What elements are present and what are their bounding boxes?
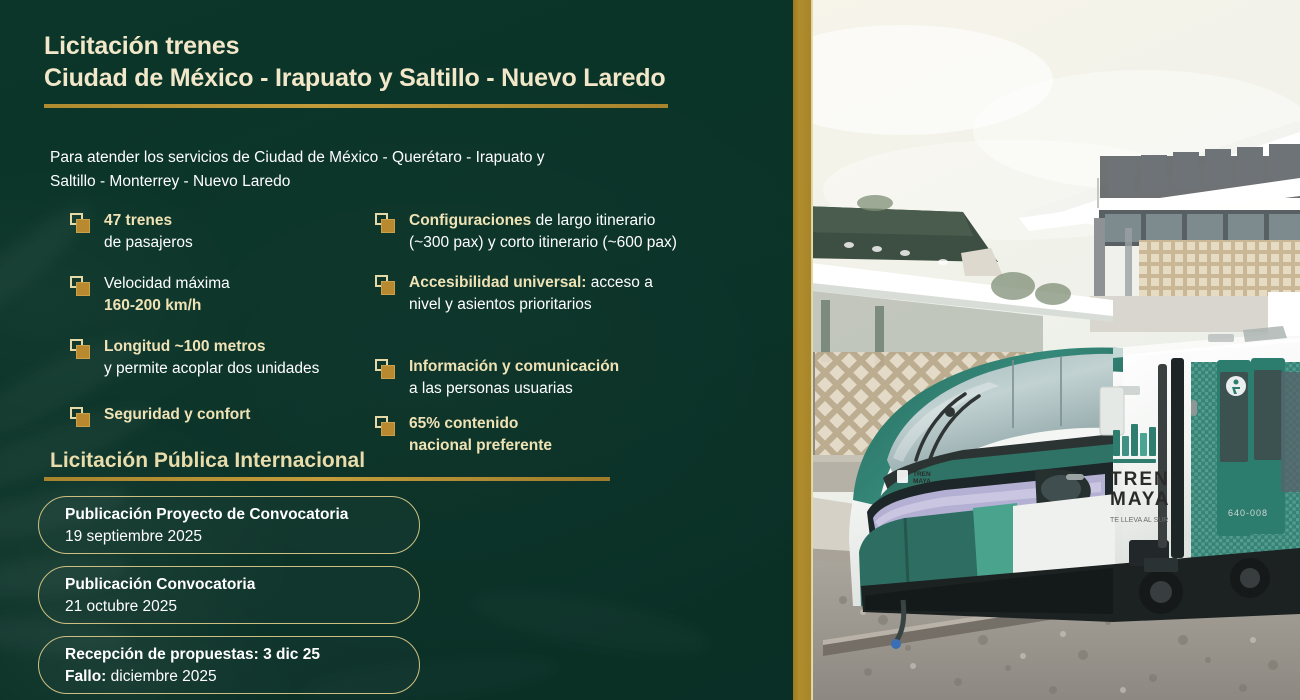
nose-badge-line1: TREN [913, 471, 931, 478]
list-item-subline: de pasajeros [104, 232, 380, 254]
milestone-title: Publicación Proyecto de Convocatoria [65, 504, 419, 526]
list-item-strong: Accesibilidad universal: [409, 274, 586, 291]
list-item-subline: 160-200 km/h [104, 295, 380, 317]
list-item: Velocidad máxima 160-200 km/h [70, 273, 380, 316]
milestone-title: Publicación Convocatoria [65, 574, 419, 596]
train-branding-line1: TREN [1110, 469, 1170, 490]
list-item: 47 trenes de pasajeros [70, 210, 380, 253]
list-item: Accesibilidad universal: acceso a nivel … [375, 272, 775, 315]
background-watermark [468, 580, 712, 667]
page-title: Licitación trenes Ciudad de México - Ira… [44, 30, 744, 94]
list-item-subline: nivel y asientos prioritarios [409, 294, 775, 316]
list-item-rest: de largo itinerario [531, 212, 655, 229]
intro-paragraph: Para atender los servicios de Ciudad de … [50, 146, 710, 194]
list-item-strong: 47 trenes [104, 212, 172, 229]
train-photo: TREN MAYA [813, 0, 1300, 700]
list-item-subline: nacional preferente [409, 435, 775, 457]
list-item: Longitud ~100 metros y permite acoplar d… [70, 336, 380, 379]
train-car-number: 640-008 [1228, 508, 1268, 518]
milestone-pill[interactable]: Publicación Proyecto de Convocatoria 19 … [38, 496, 420, 554]
milestone-pill[interactable]: Recepción de propuestas: 3 dic 25 Fallo:… [38, 636, 420, 694]
title-line-1: Licitación trenes [44, 30, 744, 62]
section-divider-rule [44, 477, 610, 481]
slide-root: Licitación trenes Ciudad de México - Ira… [0, 0, 1300, 700]
milestone-date: diciembre 2025 [106, 668, 216, 685]
feature-list-left: 47 trenes de pasajeros Velocidad máxima … [70, 210, 380, 426]
list-item-subline: (~300 pax) y corto itinerario (~600 pax) [409, 232, 775, 254]
list-item-strong: Configuraciones [409, 212, 531, 229]
gold-divider-bar [793, 0, 811, 700]
list-item-strong: 65% contenido [409, 415, 518, 432]
list-item: 65% contenido nacional preferente [375, 413, 775, 456]
milestone-date-label: Fallo: [65, 668, 106, 685]
section-heading: Licitación Pública Internacional [50, 449, 365, 473]
double-square-bullet-icon [375, 416, 397, 436]
double-square-bullet-icon [70, 276, 92, 296]
milestone-date: 19 septiembre 2025 [65, 526, 419, 548]
list-item: Información y comunicación a las persona… [375, 356, 775, 399]
list-item-strong: Longitud ~100 metros [104, 338, 266, 355]
list-item: Seguridad y confort [70, 404, 380, 426]
milestone-date: 21 octubre 2025 [65, 596, 419, 618]
double-square-bullet-icon [70, 407, 92, 427]
list-item-rest: acceso a [586, 274, 652, 291]
milestone-title: Recepción de propuestas: 3 dic 25 [65, 644, 419, 666]
title-line-2: Ciudad de México - Irapuato y Saltillo -… [44, 62, 744, 94]
intro-line-1: Para atender los servicios de Ciudad de … [50, 146, 710, 170]
double-square-bullet-icon [70, 213, 92, 233]
double-square-bullet-icon [375, 275, 397, 295]
train-branding-line2: MAYA [1110, 489, 1170, 510]
feature-list-right: Configuraciones de largo itinerario (~30… [375, 210, 775, 456]
double-square-bullet-icon [375, 359, 397, 379]
list-item-subline: a las personas usuarias [409, 378, 775, 400]
list-item-strong: Información y comunicación [409, 358, 619, 375]
list-item-subline: y permite acoplar dos unidades [104, 358, 380, 380]
list-item: Configuraciones de largo itinerario (~30… [375, 210, 775, 253]
list-item-strong: Seguridad y confort [104, 406, 250, 423]
double-square-bullet-icon [375, 213, 397, 233]
double-square-bullet-icon [70, 339, 92, 359]
intro-line-2: Saltillo - Monterrey - Nuevo Laredo [50, 170, 710, 194]
train-branding-tagline: TE LLEVA AL SUR [1110, 517, 1168, 524]
list-item-rest: Velocidad máxima [104, 275, 230, 292]
milestone-pill[interactable]: Publicación Convocatoria 21 octubre 2025 [38, 566, 420, 624]
title-divider-rule [44, 104, 668, 108]
